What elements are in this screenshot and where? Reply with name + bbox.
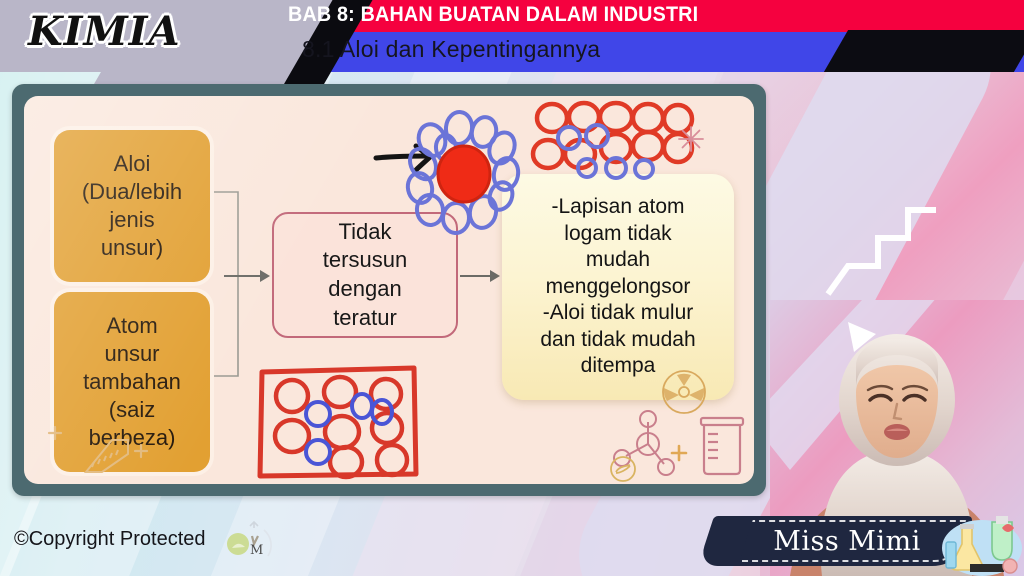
- concept-box-aloi[interactable]: Aloi(Dua/lebihjenisunsur): [54, 130, 210, 282]
- presenter-nameplate: Miss Mimi: [722, 516, 972, 566]
- beaker-icon: [696, 412, 748, 478]
- electron-icon: [608, 454, 638, 484]
- zigzag-decoration-icon: [820, 170, 940, 300]
- concept-box-atom-label: Atomunsurtambahan(saizberbeza): [83, 312, 181, 453]
- molecule-icon: [610, 410, 686, 478]
- concept-box-atom[interactable]: Atomunsurtambahan(saizberbeza): [54, 292, 210, 472]
- brand-logo: KIMIA: [28, 8, 181, 55]
- slide-frame: Aloi(Dua/lebihjenisunsur) Atomunsurtamba…: [12, 84, 766, 496]
- channel-logo-icon: M: [224, 520, 278, 568]
- concept-box-middle[interactable]: Tidaktersusundenganteratur: [272, 212, 458, 338]
- concept-box-result-label: -Lapisan atomlogam tidakmudahmenggelongs…: [540, 194, 695, 379]
- concept-box-aloi-label: Aloi(Dua/lebihjenisunsur): [82, 150, 182, 263]
- bottom-strip: [0, 566, 1024, 576]
- header-bar: KIMIA BAB 8: BAHAN BUATAN DALAM INDUSTRI…: [0, 0, 1024, 72]
- presenter-name: Miss Mimi: [773, 526, 921, 557]
- screen: KIMIA BAB 8: BAHAN BUATAN DALAM INDUSTRI…: [0, 0, 1024, 576]
- svg-text:M: M: [250, 543, 263, 558]
- concept-box-result[interactable]: -Lapisan atomlogam tidakmudahmenggelongs…: [502, 174, 734, 400]
- chapter-title: BAB 8: BAHAN BUATAN DALAM INDUSTRI: [288, 3, 946, 31]
- brand-logo-text: KIMIA: [28, 8, 181, 55]
- section-title: 8.1 Aloi dan Kepentingannya: [302, 36, 1002, 68]
- plus-icon: [668, 442, 690, 464]
- copyright-notice: ©Copyright Protected: [14, 528, 206, 551]
- slide-content: Aloi(Dua/lebihjenisunsur) Atomunsurtamba…: [24, 96, 754, 484]
- concept-box-middle-label: Tidaktersusundenganteratur: [323, 218, 407, 332]
- sparkle-icon: [676, 124, 706, 154]
